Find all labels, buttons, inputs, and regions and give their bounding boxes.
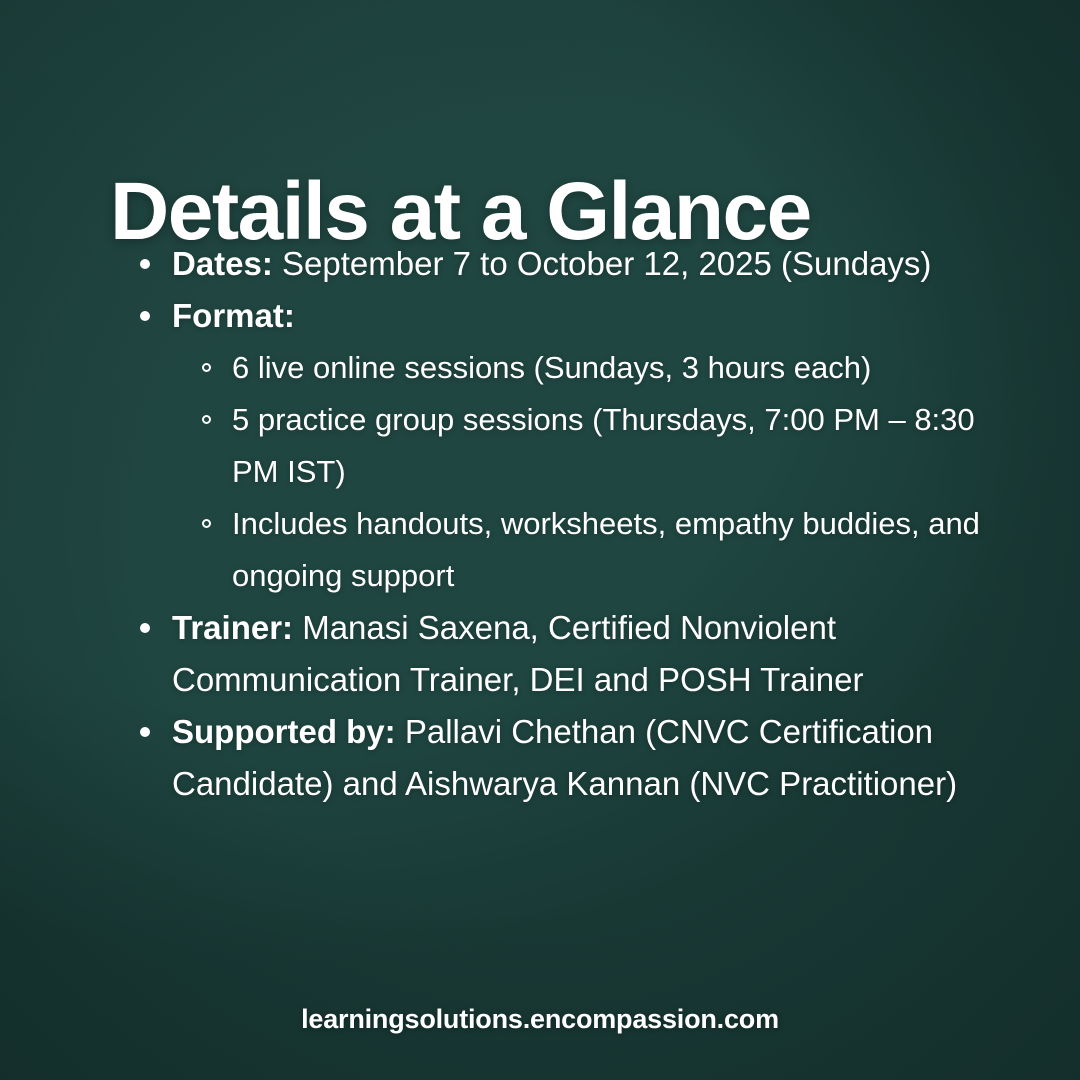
list-item: Includes handouts, worksheets, empathy b… (200, 498, 982, 602)
list-item-lead: Supported by: (172, 713, 396, 750)
list-item: Dates: September 7 to October 12, 2025 (… (136, 238, 982, 290)
list-item: Format: (136, 290, 982, 342)
bullet-disc-icon (140, 311, 150, 321)
details-bullet-list: Dates: September 7 to October 12, 2025 (… (136, 238, 982, 810)
bullet-disc-icon (140, 259, 150, 269)
slide-canvas: Details at a Glance Dates: September 7 t… (0, 0, 1080, 1080)
bullet-circle-icon (202, 519, 211, 528)
list-item-lead: Trainer: (172, 609, 293, 646)
list-item-lead: Dates: (172, 245, 273, 282)
sub-item-text: Includes handouts, worksheets, empathy b… (232, 506, 980, 593)
bullet-disc-icon (140, 623, 150, 633)
list-item-text: September 7 to October 12, 2025 (Sundays… (273, 245, 932, 282)
slide-content: Details at a Glance Dates: September 7 t… (0, 0, 1080, 1080)
bullet-circle-icon (202, 363, 211, 372)
sub-item-text: 5 practice group sessions (Thursdays, 7:… (232, 402, 975, 489)
bullet-disc-icon (140, 727, 150, 737)
list-item: 6 live online sessions (Sundays, 3 hours… (200, 342, 982, 394)
list-item: Supported by: Pallavi Chethan (CNVC Cert… (136, 706, 982, 810)
bullet-circle-icon (202, 415, 211, 424)
list-item: 5 practice group sessions (Thursdays, 7:… (200, 394, 982, 498)
sub-item-text: 6 live online sessions (Sundays, 3 hours… (232, 350, 871, 385)
list-item-lead: Format: (172, 297, 295, 334)
format-sub-list: 6 live online sessions (Sundays, 3 hours… (136, 342, 982, 602)
list-item: Trainer: Manasi Saxena, Certified Nonvio… (136, 602, 982, 706)
footer-website-url[interactable]: learningsolutions.encompassion.com (0, 1004, 1080, 1035)
